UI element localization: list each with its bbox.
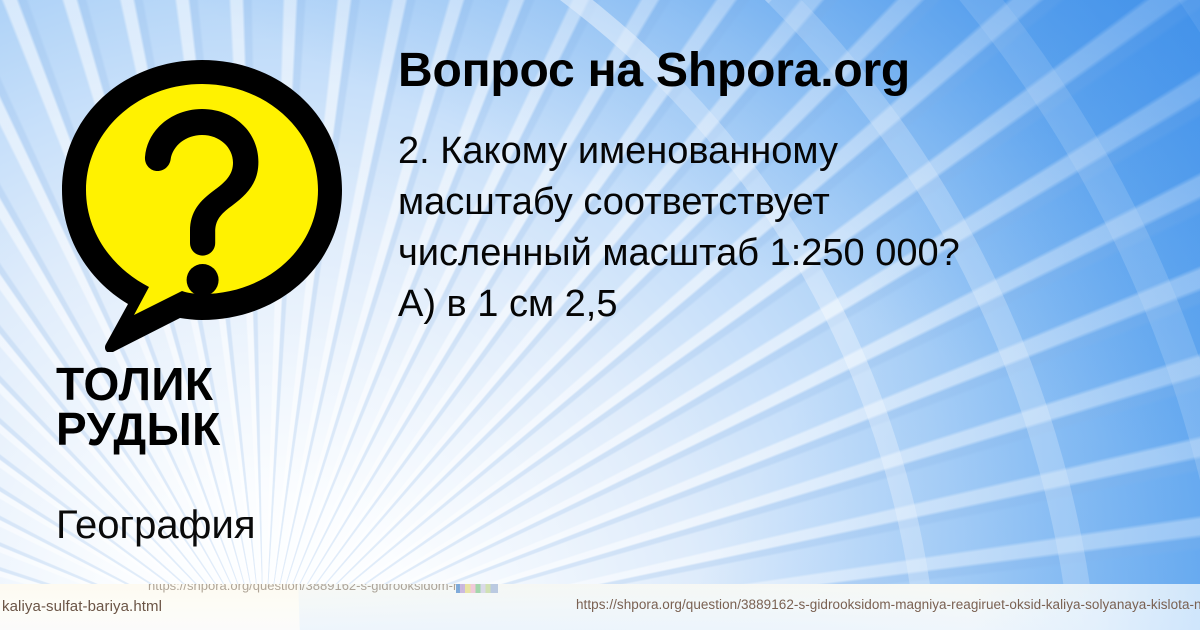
url-text[interactable]: https://shpora.org/question/3889162-s-gi… [576,597,1200,612]
question-text: 2. Какому именованному масштабу соответс… [398,126,1200,330]
favicon-icon [456,584,498,593]
page-title: Вопрос на Shpora.org [398,46,1198,96]
author-name: ТОЛИК РУДЫК [56,362,386,452]
question-speech-bubble-icon [52,52,352,352]
author-panel: ТОЛИК РУДЫК География [0,0,390,580]
url-clipped-top-text: https://shpora.org/question/3889162-s-gi… [148,584,464,593]
browser-url-bar[interactable]: https://shpora.org/question/3889162-s-gi… [0,584,1200,630]
share-card: ТОЛИК РУДЫК География Вопрос на Shpora.o… [0,0,1200,630]
question-panel: Вопрос на Shpora.org 2. Какому именованн… [398,46,1198,330]
url-wrapped-text[interactable]: kaliya-sulfat-bariya.html [2,598,162,615]
url-clipped-top-line: https://shpora.org/question/3889162-s-gi… [0,584,1200,594]
author-subject: География [56,505,255,545]
